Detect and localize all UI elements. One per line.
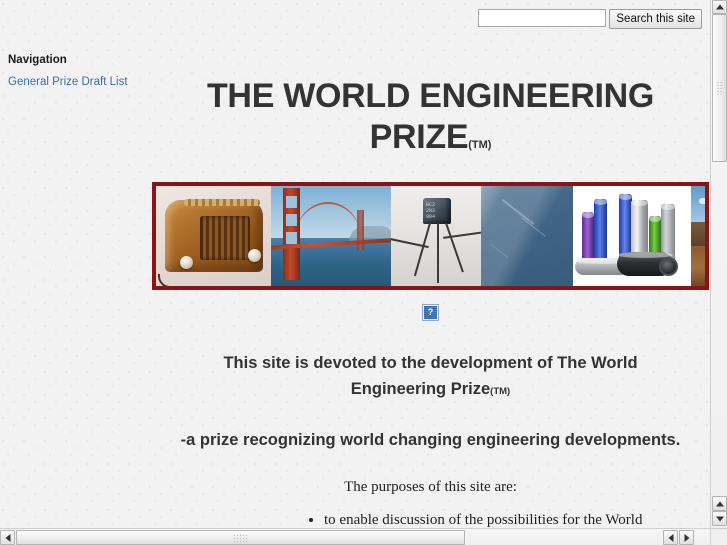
scroll-up-button-bottom[interactable] bbox=[712, 496, 727, 511]
lead-paragraph-1: This site is devoted to the development … bbox=[186, 350, 675, 405]
vertical-scrollbar[interactable] bbox=[710, 0, 727, 545]
lead-paragraph-1-trademark: (TM) bbox=[490, 386, 510, 397]
scroll-left-button[interactable] bbox=[0, 530, 15, 545]
scroll-right-button[interactable] bbox=[679, 530, 694, 545]
sidebar-item-general-prize-draft-list[interactable]: General Prize Draft List bbox=[8, 75, 143, 89]
page-title-text: THE WORLD ENGINEERING PRIZE bbox=[207, 77, 654, 156]
chevron-left-icon bbox=[5, 534, 10, 542]
transistor-lead-3 bbox=[445, 223, 463, 273]
mining-site-photo bbox=[691, 186, 709, 286]
banner-image-strip: BC22N3904 bbox=[152, 182, 709, 290]
transistor-lead-1 bbox=[414, 223, 431, 276]
lead-paragraph-2: -a prize recognizing world changing engi… bbox=[178, 427, 683, 453]
chevron-up-icon bbox=[716, 5, 724, 10]
mine-cloud-1 bbox=[699, 198, 709, 204]
film-rolls-photo bbox=[573, 186, 691, 286]
radio-knob-left bbox=[180, 256, 193, 269]
scrollbar-grip-icon bbox=[716, 81, 723, 95]
film-roll-core bbox=[659, 257, 678, 276]
list-item: to enable discussion of the possibilitie… bbox=[324, 510, 709, 528]
mine-sky bbox=[691, 186, 709, 226]
radio-top-vents bbox=[184, 199, 260, 206]
chevron-right-icon bbox=[684, 534, 689, 542]
broken-image-icon[interactable]: ? bbox=[422, 304, 439, 321]
transistor-photo: BC22N3904 bbox=[391, 186, 481, 286]
golden-gate-bridge-photo bbox=[271, 186, 391, 286]
horizontal-scrollbar[interactable] bbox=[0, 528, 710, 545]
scrollbar-corner bbox=[710, 528, 727, 545]
purposes-intro: The purposes of this site are: bbox=[152, 479, 709, 496]
main-column: THE WORLD ENGINEERING PRIZE(TM) bbox=[152, 0, 709, 528]
transistor-lead-2 bbox=[437, 223, 439, 283]
vertical-scrollbar-thumb[interactable] bbox=[712, 14, 727, 162]
navigation-heading: Navigation bbox=[8, 54, 143, 66]
page-viewport: Search this site Navigation General Priz… bbox=[0, 0, 710, 528]
page-title-trademark: (TM) bbox=[468, 139, 491, 151]
page-title: THE WORLD ENGINEERING PRIZE(TM) bbox=[152, 76, 709, 166]
transistor-package: BC22N3904 bbox=[423, 198, 451, 224]
horizontal-scrollbar-thumb[interactable] bbox=[16, 530, 465, 545]
scroll-left-button-right-end[interactable] bbox=[663, 530, 678, 545]
film-roll-blue-1 bbox=[594, 199, 607, 265]
vintage-radio-photo bbox=[156, 186, 271, 286]
scroll-down-button[interactable] bbox=[712, 511, 727, 526]
broken-image-row: ? bbox=[152, 304, 709, 326]
chevron-left-icon bbox=[668, 534, 673, 542]
radio-knob-right bbox=[248, 249, 261, 262]
chevron-down-icon bbox=[716, 516, 724, 521]
purposes-list: to enable discussion of the possibilitie… bbox=[152, 510, 709, 528]
broken-image-glyph: ? bbox=[423, 305, 438, 320]
radio-speaker-grill bbox=[200, 216, 250, 260]
blue-streak-3 bbox=[491, 244, 509, 258]
scrollbar-grip-icon bbox=[233, 534, 249, 542]
bridge-near-tower bbox=[283, 188, 300, 280]
blue-streak-2 bbox=[521, 217, 545, 236]
scroll-up-button[interactable] bbox=[712, 0, 727, 14]
mine-ridge bbox=[691, 222, 709, 246]
navigation-sidebar: Navigation General Prize Draft List bbox=[8, 54, 143, 89]
blue-material-photo bbox=[481, 186, 573, 286]
radio-power-cord bbox=[158, 274, 194, 286]
blue-streak-1 bbox=[502, 199, 535, 225]
lead-paragraph-1-text: This site is devoted to the development … bbox=[223, 354, 637, 398]
chevron-up-icon bbox=[716, 501, 724, 506]
